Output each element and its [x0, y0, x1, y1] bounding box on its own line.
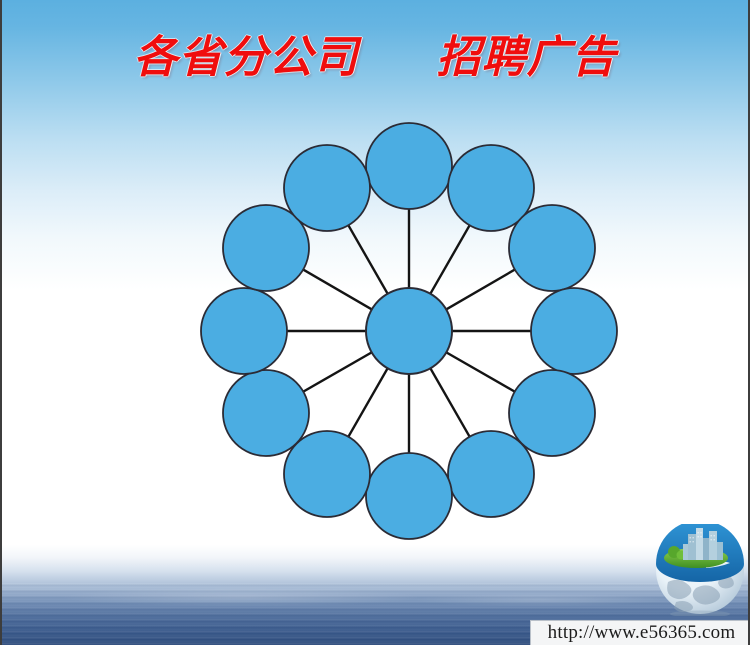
- node-circle-7[interactable]: [366, 453, 452, 539]
- spoke-line-5: [445, 352, 515, 392]
- slide-canvas: 各省分公司招聘广告: [0, 0, 750, 645]
- url-watermark-text: http://www.e56365.com: [548, 622, 736, 644]
- url-watermark: http://www.e56365.com: [530, 620, 750, 645]
- node-circle-12[interactable]: [284, 145, 370, 231]
- node-circle-4[interactable]: [531, 288, 617, 374]
- spoke-line-6: [430, 367, 470, 437]
- node-circle-10[interactable]: [201, 288, 287, 374]
- node-circle-6[interactable]: [448, 431, 534, 517]
- title-right-text: 招聘广告: [437, 32, 617, 84]
- spoke-line-9: [302, 352, 372, 392]
- node-circle-3[interactable]: [509, 205, 595, 291]
- spoke-line-2: [430, 224, 470, 294]
- sea-light-glint: [2, 583, 748, 611]
- hub-and-spoke-diagram: [152, 90, 662, 560]
- spoke-line-3: [445, 269, 515, 310]
- spoke-line-8: [348, 367, 388, 437]
- title-left-text: 各省分公司: [134, 32, 359, 84]
- spoke-line-11: [302, 269, 372, 310]
- spoke-line-12: [348, 224, 388, 294]
- slide-title: 各省分公司招聘广告: [2, 32, 748, 84]
- node-circle-9[interactable]: [223, 370, 309, 456]
- globe-city-logo: [650, 524, 750, 616]
- node-circle-1[interactable]: [366, 123, 452, 209]
- hub-circle[interactable]: [366, 288, 452, 374]
